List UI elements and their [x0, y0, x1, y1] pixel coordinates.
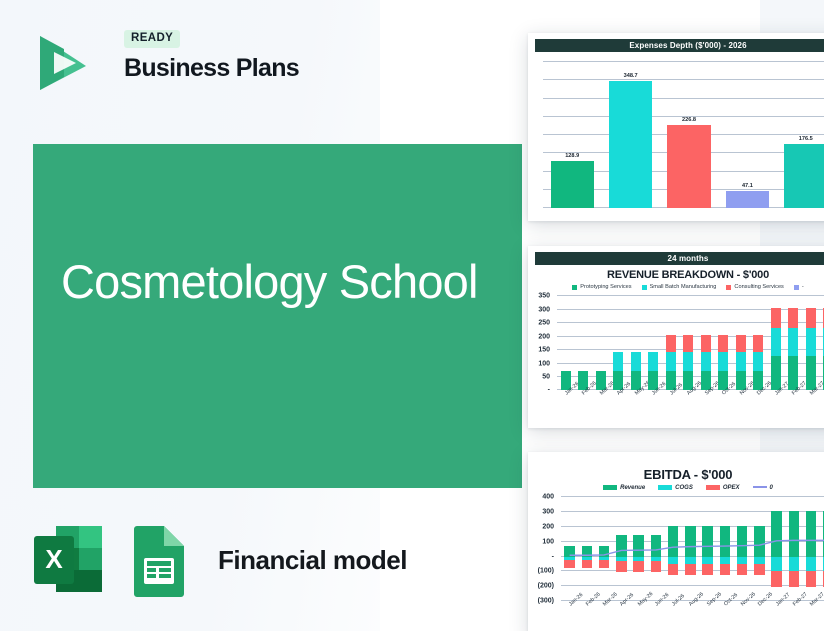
chart-card-inner: 24 months REVENUE BREAKDOWN - $'000 Prot… — [528, 246, 824, 428]
chart-card-expenses-depth[interactable]: Expenses Depth ($'000) - 2026 128.9348.7… — [528, 33, 824, 221]
legend-label: Prototyping Services — [580, 284, 631, 290]
chart-gridline — [543, 61, 824, 62]
chart-y-tick: 100 — [542, 538, 554, 545]
chart-legend[interactable]: Prototyping ServicesSmall Batch Manufact… — [535, 284, 824, 290]
chart-bar-segment[interactable] — [753, 352, 763, 371]
footer-label: Financial model — [218, 545, 407, 576]
chart-bar-segment[interactable] — [771, 308, 781, 328]
chart-gridline — [557, 309, 824, 310]
chart-bar-segment[interactable] — [806, 356, 816, 390]
legend-item[interactable]: Prototyping Services — [572, 284, 631, 290]
chart-card-ebitda[interactable]: EBITDA - $'000 RevenueCOGSOPEX0 40030020… — [528, 452, 824, 631]
chart-y-tick: 350 — [538, 293, 550, 300]
chart-gridline — [557, 295, 824, 296]
hero-panel: Cosmetology School — [33, 144, 522, 488]
chart-band-title: 24 months — [535, 252, 824, 265]
chart-y-tick: (300) — [538, 598, 554, 605]
legend-label: 0 — [770, 485, 773, 491]
legend-swatch — [658, 485, 672, 490]
legend-label: OPEX — [723, 485, 740, 491]
revenue-breakdown-plot: 35030025020015010050-Jan-26Feb-26Mar-26A… — [557, 296, 824, 390]
chart-bar-segment[interactable] — [771, 328, 781, 356]
poster-canvas: READY Business Plans Cosmetology School … — [0, 0, 824, 631]
chart-data-label: 176.5 — [799, 136, 813, 142]
chart-bar-segment[interactable] — [648, 352, 658, 371]
svg-text:X: X — [45, 544, 63, 574]
chart-y-tick: 50 — [542, 374, 550, 381]
chart-y-tick: 150 — [538, 347, 550, 354]
footer-bar: X Financial model — [30, 518, 407, 602]
chart-data-label: 226.8 — [682, 117, 696, 123]
chart-y-tick: - — [552, 553, 554, 560]
chart-bar-segment[interactable] — [753, 335, 763, 351]
chart-bar-segment[interactable] — [631, 352, 641, 371]
chart-y-tick: 300 — [538, 306, 550, 313]
chart-bar-segment[interactable] — [806, 328, 816, 356]
legend-item[interactable]: - — [794, 284, 804, 290]
brand-logo: READY Business Plans — [30, 28, 330, 100]
legend-swatch — [753, 486, 767, 488]
chart-card-inner: Expenses Depth ($'000) - 2026 128.9348.7… — [528, 33, 824, 221]
ebitda-plot: 400300200100-(100)(200)(300)Jan-26Feb-26… — [561, 497, 824, 601]
chart-bar-segment[interactable] — [666, 352, 676, 371]
expenses-depth-plot: 128.9348.7226.847.1176.5 — [543, 62, 824, 208]
chart-y-tick: (100) — [538, 568, 554, 575]
legend-label: Revenue — [620, 485, 645, 491]
legend-label: COGS — [675, 485, 693, 491]
legend-swatch — [706, 485, 720, 490]
chart-bar-segment[interactable] — [683, 335, 693, 351]
chart-y-tick: 200 — [542, 523, 554, 530]
ebitda-line-series — [561, 497, 824, 601]
chart-data-label: 47.1 — [742, 183, 753, 189]
legend-item[interactable]: COGS — [658, 485, 693, 491]
legend-item[interactable]: Small Batch Manufacturing — [642, 284, 717, 290]
chart-bar-segment[interactable] — [771, 356, 781, 390]
chart-bar-segment[interactable] — [788, 328, 798, 356]
chart-y-tick: 100 — [538, 360, 550, 367]
legend-item[interactable]: OPEX — [706, 485, 740, 491]
chart-bar[interactable] — [726, 191, 769, 208]
chart-bar-segment[interactable] — [736, 335, 746, 351]
legend-label: - — [802, 284, 804, 290]
chart-y-tick: 400 — [542, 494, 554, 501]
chart-bar[interactable] — [667, 125, 710, 208]
chart-bar-segment[interactable] — [701, 335, 711, 351]
chart-bar-segment[interactable] — [613, 352, 623, 371]
legend-swatch — [603, 485, 617, 490]
chart-data-label: 348.7 — [624, 73, 638, 79]
chart-bar-segment[interactable] — [701, 352, 711, 371]
chart-bar-segment[interactable] — [718, 335, 728, 351]
chart-bar-segment[interactable] — [736, 352, 746, 371]
chart-card-inner: EBITDA - $'000 RevenueCOGSOPEX0 40030020… — [528, 452, 824, 631]
legend-swatch — [572, 285, 577, 290]
chart-bar[interactable] — [784, 144, 824, 208]
chart-bar-segment[interactable] — [718, 352, 728, 371]
chart-data-label: 128.9 — [565, 153, 579, 159]
play-triangle-logo-icon — [30, 30, 92, 96]
chart-bar-segment[interactable] — [806, 308, 816, 328]
chart-bar-segment[interactable] — [683, 352, 693, 371]
chart-y-tick: 200 — [538, 333, 550, 340]
brand-text-block: READY Business Plans — [124, 28, 299, 81]
page-title: Cosmetology School — [61, 252, 491, 312]
chart-y-tick: - — [548, 387, 550, 394]
chart-y-tick: 300 — [542, 508, 554, 515]
chart-gridline — [557, 322, 824, 323]
chart-gridline — [543, 98, 824, 99]
chart-bar-segment[interactable] — [666, 335, 676, 351]
ready-badge: READY — [124, 30, 180, 48]
chart-legend[interactable]: RevenueCOGSOPEX0 — [535, 485, 824, 491]
google-sheets-icon — [128, 522, 190, 598]
legend-label: Small Batch Manufacturing — [650, 284, 717, 290]
legend-swatch — [642, 285, 647, 290]
chart-card-revenue-breakdown[interactable]: 24 months REVENUE BREAKDOWN - $'000 Prot… — [528, 246, 824, 428]
chart-title: EBITDA - $'000 — [535, 467, 824, 482]
chart-bar[interactable] — [609, 81, 652, 208]
chart-y-tick: (200) — [538, 583, 554, 590]
chart-bar[interactable] — [551, 161, 594, 208]
legend-item[interactable]: Consulting Services — [726, 284, 783, 290]
brand-name: Business Plans — [124, 56, 299, 81]
legend-item[interactable]: Revenue — [603, 485, 645, 491]
legend-swatch — [794, 285, 799, 290]
chart-band-title: Expenses Depth ($'000) - 2026 — [535, 39, 824, 52]
chart-title: REVENUE BREAKDOWN - $'000 — [535, 269, 824, 281]
legend-swatch — [726, 285, 731, 290]
chart-gridline — [543, 79, 824, 80]
microsoft-excel-icon: X — [30, 522, 106, 598]
legend-item[interactable]: 0 — [753, 485, 773, 491]
chart-bar-segment[interactable] — [788, 308, 798, 328]
chart-y-tick: 250 — [538, 320, 550, 327]
legend-label: Consulting Services — [734, 284, 783, 290]
